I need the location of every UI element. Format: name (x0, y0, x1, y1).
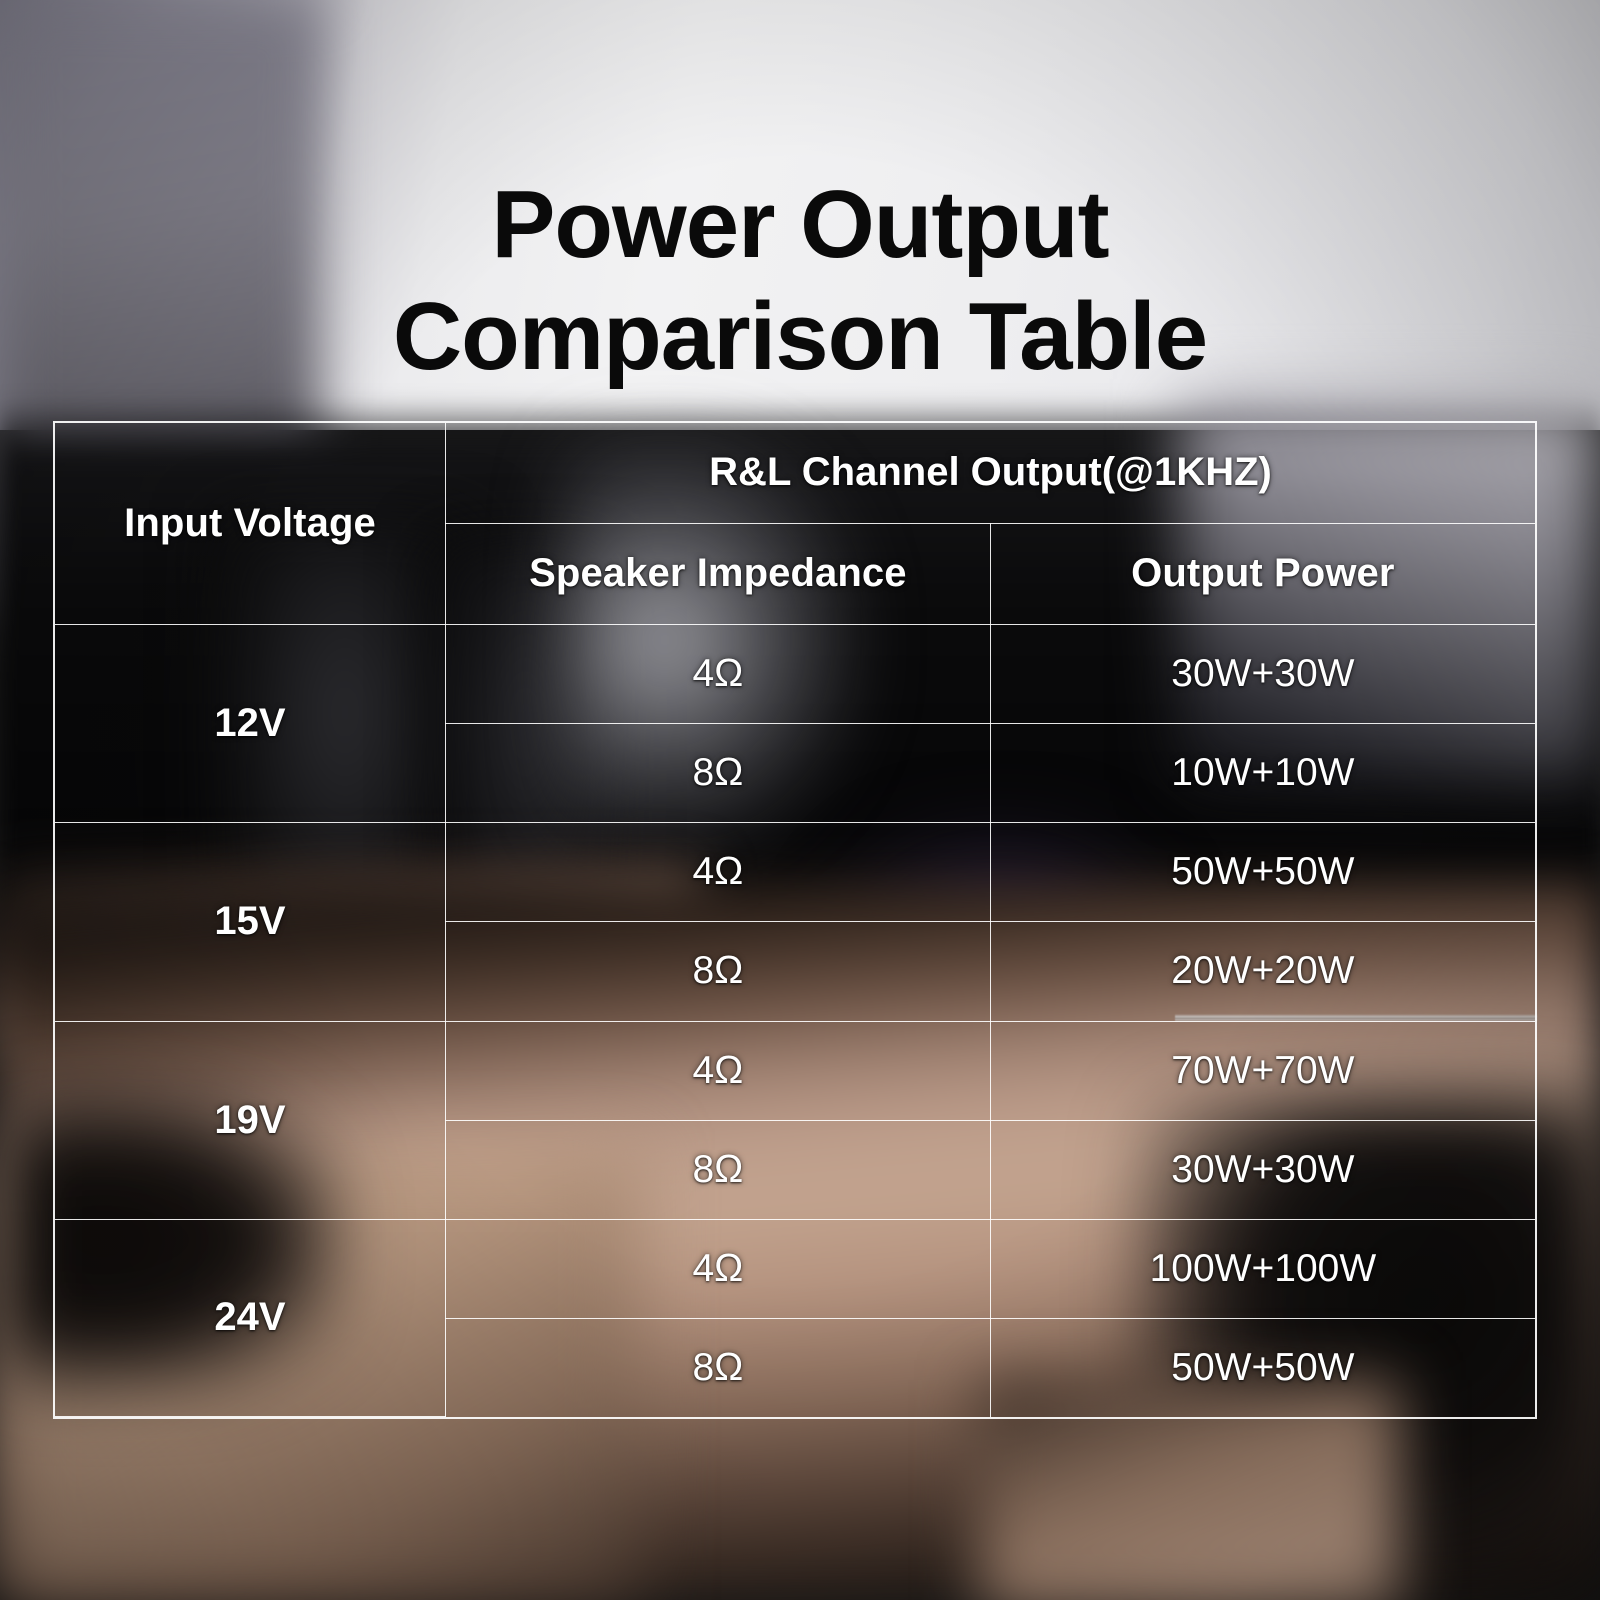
power-cell: 20W+20W (990, 922, 1535, 1021)
page-title-line-2: Comparison Table (0, 281, 1600, 392)
header-speaker-impedance: Speaker Impedance (446, 523, 991, 624)
power-output-comparison-table: Input Voltage R&L Channel Output(@1KHZ) … (53, 421, 1537, 1419)
power-cell: 100W+100W (990, 1219, 1535, 1318)
impedance-cell: 4Ω (446, 1021, 991, 1120)
header-rl-channel-output: R&L Channel Output(@1KHZ) (446, 423, 1536, 523)
voltage-cell-15v: 15V (55, 823, 446, 1021)
page-title: Power Output Comparison Table (0, 169, 1600, 392)
power-cell: 30W+30W (990, 1120, 1535, 1219)
power-cell: 10W+10W (990, 724, 1535, 823)
power-cell: 50W+50W (990, 1318, 1535, 1416)
power-cell: 70W+70W (990, 1021, 1535, 1120)
table-row: 15V 4Ω 50W+50W (55, 823, 1535, 922)
voltage-cell-24v: 24V (55, 1219, 446, 1416)
voltage-cell-12v: 12V (55, 625, 446, 823)
power-cell: 50W+50W (990, 823, 1535, 922)
impedance-cell: 4Ω (446, 625, 991, 724)
table-row: 12V 4Ω 30W+30W (55, 625, 1535, 724)
voltage-cell-19v: 19V (55, 1021, 446, 1219)
impedance-cell: 8Ω (446, 1318, 991, 1416)
impedance-cell: 8Ω (446, 922, 991, 1021)
page-title-line-1: Power Output (0, 169, 1600, 280)
table-row: 19V 4Ω 70W+70W (55, 1021, 1535, 1120)
table-header-row-top: Input Voltage R&L Channel Output(@1KHZ) (55, 423, 1535, 523)
table-row: 24V 4Ω 100W+100W (55, 1219, 1535, 1318)
comparison-table: Input Voltage R&L Channel Output(@1KHZ) … (55, 423, 1535, 1417)
header-output-power: Output Power (990, 523, 1535, 624)
impedance-cell: 4Ω (446, 823, 991, 922)
power-cell: 30W+30W (990, 625, 1535, 724)
impedance-cell: 8Ω (446, 724, 991, 823)
header-input-voltage: Input Voltage (55, 423, 446, 625)
impedance-cell: 4Ω (446, 1219, 991, 1318)
impedance-cell: 8Ω (446, 1120, 991, 1219)
